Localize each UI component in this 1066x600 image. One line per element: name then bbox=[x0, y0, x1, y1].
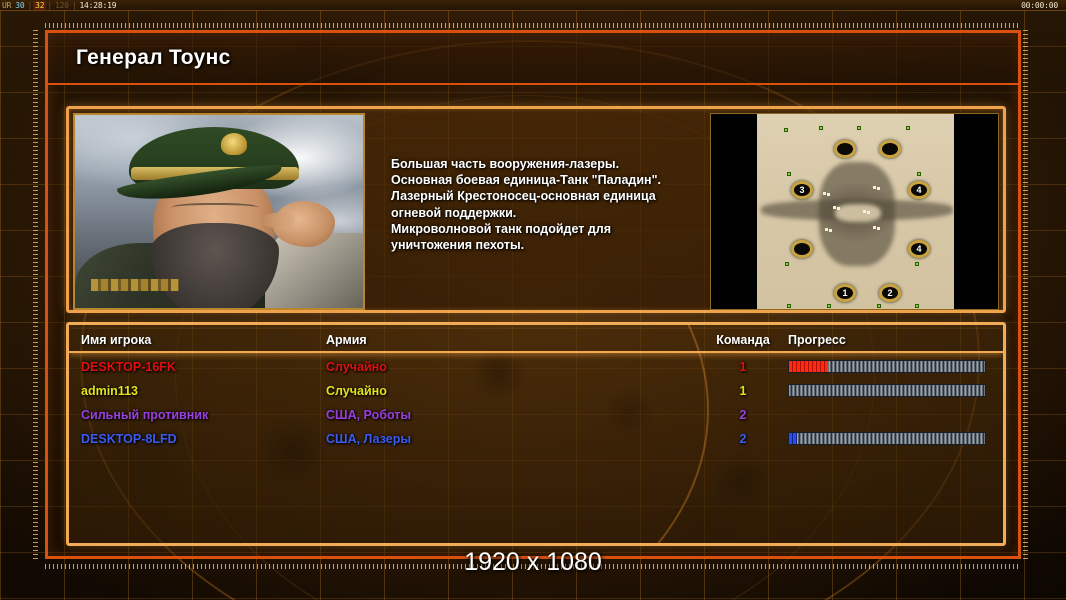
map-supply-marker bbox=[784, 128, 788, 132]
column-header-army: Армия bbox=[326, 333, 656, 347]
status-frame: 32 bbox=[33, 1, 46, 10]
portrait-beard bbox=[151, 223, 279, 310]
portrait-cap-badge bbox=[221, 133, 247, 155]
player-list-header: Имя игрока Армия Команда Прогресс bbox=[69, 329, 1003, 353]
status-sep-2: | bbox=[46, 1, 53, 10]
map-start-position[interactable] bbox=[879, 140, 901, 158]
player-name: Сильный противник bbox=[81, 408, 321, 422]
status-sep-1: | bbox=[26, 1, 33, 10]
player-progress-bar bbox=[788, 360, 986, 373]
map-start-position-label: 2 bbox=[887, 288, 892, 298]
map-supply-marker bbox=[819, 126, 823, 130]
player-progress-fill bbox=[789, 361, 828, 372]
map-supply-marker bbox=[917, 172, 921, 176]
map-supply-marker bbox=[857, 126, 861, 130]
player-team[interactable]: 1 bbox=[708, 384, 778, 398]
map-supply-marker bbox=[787, 304, 791, 308]
player-army[interactable]: США, Роботы bbox=[326, 408, 656, 422]
status-label: UR bbox=[0, 1, 13, 10]
map-preview[interactable]: 34412 bbox=[710, 113, 999, 310]
general-description: Большая часть вооружения-лазеры. Основна… bbox=[365, 113, 710, 306]
map-supply-marker bbox=[906, 126, 910, 130]
player-row[interactable]: admin113Случайно1 bbox=[69, 379, 1003, 403]
column-header-progress: Прогресс bbox=[788, 333, 998, 347]
player-row[interactable]: Сильный противникСША, Роботы2 bbox=[69, 403, 1003, 427]
status-budget: 120 bbox=[53, 1, 71, 10]
map-start-position[interactable] bbox=[834, 140, 856, 158]
debug-status-bar: UR 30 | 32 | 120 | 14:28:19 00:00:00 bbox=[0, 0, 1066, 11]
map-start-position-label: 4 bbox=[916, 244, 921, 254]
game-setup-window: Генерал Тоунс Большая часть воо bbox=[45, 30, 1021, 559]
column-header-name: Имя игрока bbox=[81, 333, 321, 347]
game-screen: UR 30 | 32 | 120 | 14:28:19 00:00:00 Ген… bbox=[0, 0, 1066, 600]
map-start-position-label: 4 bbox=[916, 185, 921, 195]
map-start-position[interactable]: 2 bbox=[879, 284, 901, 302]
portrait-finger bbox=[261, 213, 295, 228]
player-army[interactable]: Случайно bbox=[326, 384, 656, 398]
map-supply-marker bbox=[787, 172, 791, 176]
map-supply-marker bbox=[915, 262, 919, 266]
player-name: DESKTOP-8LFD bbox=[81, 432, 321, 446]
player-army[interactable]: США, Лазеры bbox=[326, 432, 656, 446]
map-start-position[interactable] bbox=[791, 240, 813, 258]
status-fps: 30 bbox=[13, 1, 26, 10]
map-supply-marker bbox=[915, 304, 919, 308]
player-progress-fill bbox=[789, 433, 797, 444]
map-supply-marker bbox=[785, 262, 789, 266]
map-supply-marker bbox=[827, 304, 831, 308]
resolution-overlay: 1920 x 1080 bbox=[0, 548, 1066, 577]
player-list-panel: Имя игрока Армия Команда Прогресс DESKTO… bbox=[66, 322, 1006, 546]
status-sep-3: | bbox=[71, 1, 78, 10]
map-start-position[interactable]: 3 bbox=[791, 181, 813, 199]
page-title: Генерал Тоунс bbox=[76, 46, 231, 70]
map-supply-marker bbox=[877, 304, 881, 308]
player-team[interactable]: 2 bbox=[708, 432, 778, 446]
ruler-right bbox=[1023, 30, 1032, 559]
map-features: 34412 bbox=[757, 114, 954, 310]
general-portrait bbox=[73, 113, 365, 310]
column-header-team: Команда bbox=[708, 333, 778, 347]
map-start-position[interactable]: 4 bbox=[908, 181, 930, 199]
player-name: admin113 bbox=[81, 384, 321, 398]
status-timer: 00:00:00 bbox=[1021, 1, 1066, 10]
window-titlebar: Генерал Тоунс bbox=[48, 33, 1018, 85]
status-clock: 14:28:19 bbox=[77, 1, 118, 10]
player-team[interactable]: 1 bbox=[708, 360, 778, 374]
map-start-position[interactable]: 4 bbox=[908, 240, 930, 258]
map-start-position[interactable]: 1 bbox=[834, 284, 856, 302]
map-start-position-label: 1 bbox=[842, 288, 847, 298]
player-progress-bar bbox=[788, 432, 986, 445]
player-progress-bar bbox=[788, 384, 986, 397]
general-info-panel: Большая часть вооружения-лазеры. Основна… bbox=[66, 106, 1006, 313]
portrait-medals bbox=[91, 279, 179, 291]
map-start-position-label: 3 bbox=[799, 185, 804, 195]
player-row[interactable]: DESKTOP-16FKСлучайно1 bbox=[69, 355, 1003, 379]
portrait-glasses bbox=[171, 203, 259, 215]
ruler-left bbox=[33, 30, 42, 559]
player-team[interactable]: 2 bbox=[708, 408, 778, 422]
ruler-top bbox=[45, 19, 1021, 28]
player-army[interactable]: Случайно bbox=[326, 360, 656, 374]
player-name: DESKTOP-16FK bbox=[81, 360, 321, 374]
player-row[interactable]: DESKTOP-8LFDСША, Лазеры2 bbox=[69, 427, 1003, 451]
